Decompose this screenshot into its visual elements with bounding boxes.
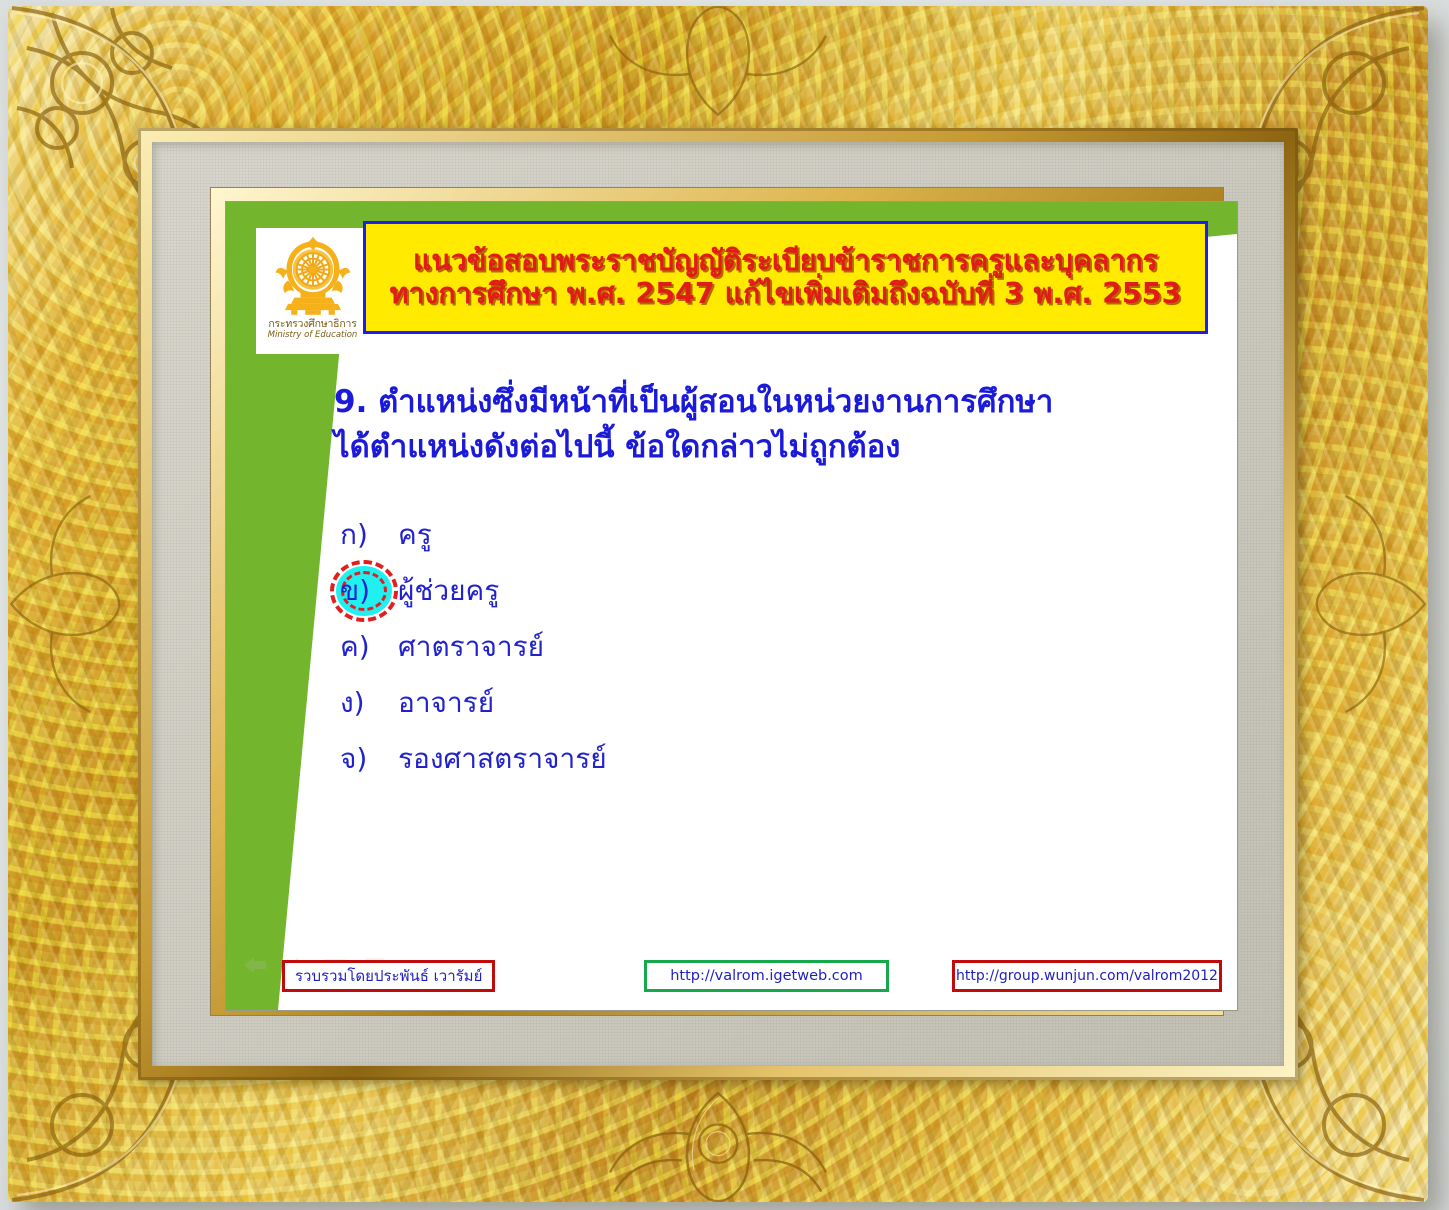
url-secondary-box[interactable]: http://group.wunjun.com/valrom2012 bbox=[952, 960, 1222, 992]
answer-options-list: ก) ครู ข) ผู้ช่วยครู ค) ศาตราจารย์ bbox=[326, 507, 1206, 787]
url-primary-box[interactable]: http://valrom.igetweb.com bbox=[644, 960, 889, 992]
option-row-kho[interactable]: ข) ผู้ช่วยครู bbox=[326, 563, 1206, 619]
option-row-ngo[interactable]: ง) อาจารย์ bbox=[326, 675, 1206, 731]
ornate-gold-picture-frame: กระทรวงศึกษาธิการ Ministry of Education … bbox=[8, 6, 1428, 1202]
option-text-kho-khwai: ศาตราจารย์ bbox=[398, 633, 544, 661]
title-banner: แนวข้อสอบพระราชบัญญัติระเบียบข้าราชการคร… bbox=[363, 221, 1208, 334]
option-key-ka: ก) bbox=[326, 521, 398, 549]
title-line-1: แนวข้อสอบพระราชบัญญัติระเบียบข้าราชการคร… bbox=[413, 246, 1158, 277]
option-key-kho: ข) bbox=[326, 577, 398, 605]
option-text-cho: รองศาสตราจารย์ bbox=[398, 745, 607, 773]
dharma-wheel-icon bbox=[274, 232, 352, 318]
credit-box: รวบรวมโดยประพันธ์ เวารัมย์ bbox=[282, 960, 495, 992]
question-text: 9. ตำแหน่งซึ่งมีหน้าที่เป็นผู้สอนในหน่วย… bbox=[334, 380, 1214, 470]
option-key-kho-khwai: ค) bbox=[326, 633, 398, 661]
presentation-slide: กระทรวงศึกษาธิการ Ministry of Education … bbox=[226, 202, 1237, 1010]
option-text-ngo: อาจารย์ bbox=[398, 689, 494, 717]
question-line-2: ได้ตำแหน่งดังต่อไปนี้ ข้อใดกล่าวไม่ถูกต้… bbox=[334, 425, 1214, 470]
option-key-cho: จ) bbox=[326, 745, 398, 773]
option-text-kho: ผู้ช่วยครู bbox=[398, 577, 499, 605]
ministry-logo: กระทรวงศึกษาธิการ Ministry of Education bbox=[256, 228, 369, 354]
option-key-ngo: ง) bbox=[326, 689, 398, 717]
logo-thai-label: กระทรวงศึกษาธิการ bbox=[268, 319, 356, 330]
previous-slide-icon[interactable] bbox=[240, 954, 270, 976]
option-row-ka[interactable]: ก) ครู bbox=[326, 507, 1206, 563]
logo-english-label: Ministry of Education bbox=[268, 331, 358, 340]
option-text-ka: ครู bbox=[398, 521, 432, 549]
option-row-kho-khwai[interactable]: ค) ศาตราจารย์ bbox=[326, 619, 1206, 675]
question-line-1: 9. ตำแหน่งซึ่งมีหน้าที่เป็นผู้สอนในหน่วย… bbox=[334, 380, 1214, 425]
framed-slide-scene: กระทรวงศึกษาธิการ Ministry of Education … bbox=[0, 0, 1449, 1210]
title-line-2: ทางการศึกษา พ.ศ. 2547 แก้ไขเพิ่มเติมถึงฉ… bbox=[390, 279, 1182, 310]
option-row-cho[interactable]: จ) รองศาสตราจารย์ bbox=[326, 731, 1206, 787]
